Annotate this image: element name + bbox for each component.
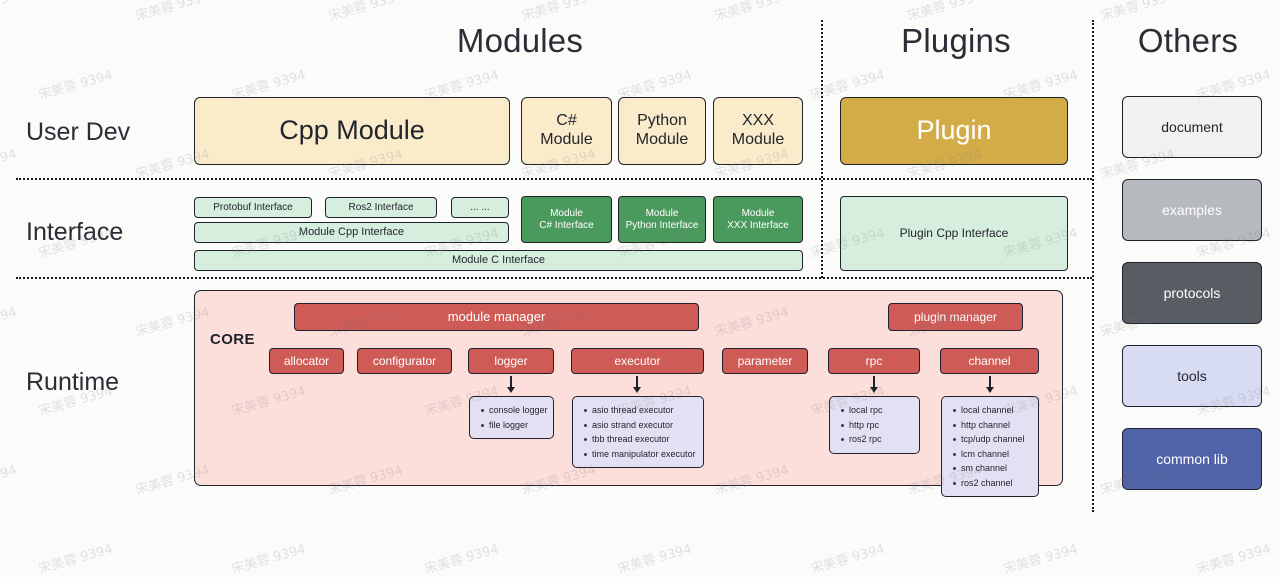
box-ros2-interface[interactable]: Ros2 Interface	[325, 197, 437, 218]
list-logger-children: console logger file logger	[469, 396, 554, 439]
divider-user-dev-interface	[16, 178, 1092, 180]
list-item: time manipulator executor	[592, 447, 696, 462]
list-item: console logger	[489, 403, 546, 418]
watermark-text: 宋美蓉 9394	[133, 0, 212, 24]
watermark-text: 宋美蓉 9394	[519, 0, 598, 24]
box-xxx-module[interactable]: XXX Module	[713, 97, 803, 165]
box-module-csharp-interface-line1: Module	[550, 208, 583, 220]
list-item: http channel	[961, 418, 1031, 433]
watermark-text: 宋美蓉 9394	[0, 143, 19, 182]
box-others-common-lib[interactable]: common lib	[1122, 428, 1262, 490]
arrow-executor-down	[630, 376, 644, 393]
column-title-others: Others	[1098, 22, 1278, 60]
list-item: http rpc	[849, 418, 912, 433]
box-others-document[interactable]: document	[1122, 96, 1262, 158]
list-item: sm channel	[961, 461, 1031, 476]
box-module-xxx-interface-line1: Module	[742, 208, 775, 220]
list-item: local rpc	[849, 403, 912, 418]
box-others-tools[interactable]: tools	[1122, 345, 1262, 407]
box-module-python-interface-line1: Module	[646, 208, 679, 220]
list-item: ros2 channel	[961, 476, 1031, 491]
box-more-interface[interactable]: ... ...	[451, 197, 509, 218]
row-label-interface: Interface	[26, 218, 123, 247]
list-channel-children: local channel http channel tcp/udp chann…	[941, 396, 1039, 497]
box-configurator[interactable]: configurator	[357, 348, 452, 374]
box-parameter[interactable]: parameter	[722, 348, 808, 374]
box-logger[interactable]: logger	[468, 348, 554, 374]
watermark-text: 宋美蓉 9394	[808, 538, 887, 577]
column-title-modules: Modules	[320, 22, 720, 60]
box-csharp-module-line1: C#	[556, 112, 576, 131]
list-item: lcm channel	[961, 447, 1031, 462]
diagram-canvas: 宋美蓉 9394宋美蓉 9394宋美蓉 9394宋美蓉 9394宋美蓉 9394…	[0, 0, 1280, 519]
box-others-examples[interactable]: examples	[1122, 179, 1262, 241]
box-plugin[interactable]: Plugin	[840, 97, 1068, 165]
box-module-python-interface-line2: Python Interface	[626, 220, 699, 232]
list-item: asio strand executor	[592, 418, 696, 433]
watermark-text: 宋美蓉 9394	[0, 0, 19, 24]
box-python-module-line1: Python	[637, 112, 687, 131]
box-module-csharp-interface[interactable]: Module C# Interface	[521, 196, 612, 243]
list-executor-children: asio thread executor asio strand executo…	[572, 396, 704, 468]
arrow-channel-down	[983, 376, 997, 393]
divider-interface-runtime	[16, 277, 1092, 279]
watermark-text: 宋美蓉 9394	[1001, 538, 1080, 577]
box-channel[interactable]: channel	[940, 348, 1039, 374]
box-allocator[interactable]: allocator	[269, 348, 344, 374]
box-module-python-interface[interactable]: Module Python Interface	[618, 196, 706, 243]
list-item: file logger	[489, 418, 546, 433]
column-title-plugins: Plugins	[836, 22, 1076, 60]
box-xxx-module-line2: Module	[732, 131, 784, 150]
box-protobuf-interface[interactable]: Protobuf Interface	[194, 197, 312, 218]
watermark-text: 宋美蓉 9394	[0, 301, 19, 340]
row-label-user-dev: User Dev	[26, 118, 130, 147]
list-item: local channel	[961, 403, 1031, 418]
watermark-text: 宋美蓉 9394	[0, 459, 19, 498]
box-rpc[interactable]: rpc	[828, 348, 920, 374]
box-xxx-module-line1: XXX	[742, 112, 774, 131]
row-label-runtime: Runtime	[26, 368, 119, 397]
box-others-protocols[interactable]: protocols	[1122, 262, 1262, 324]
box-python-module[interactable]: Python Module	[618, 97, 706, 165]
arrow-rpc-down	[867, 376, 881, 393]
watermark-text: 宋美蓉 9394	[229, 538, 308, 577]
box-csharp-module-line2: Module	[540, 131, 592, 150]
box-executor[interactable]: executor	[571, 348, 704, 374]
box-module-xxx-interface[interactable]: Module XXX Interface	[713, 196, 803, 243]
watermark-text: 宋美蓉 9394	[712, 0, 791, 24]
box-python-module-line2: Module	[636, 131, 688, 150]
watermark-text: 宋美蓉 9394	[36, 538, 115, 577]
list-item: tcp/udp channel	[961, 432, 1031, 447]
box-csharp-module[interactable]: C# Module	[521, 97, 612, 165]
list-item: asio thread executor	[592, 403, 696, 418]
list-rpc-children: local rpc http rpc ros2 rpc	[829, 396, 920, 454]
box-module-manager[interactable]: module manager	[294, 303, 699, 331]
watermark-text: 宋美蓉 9394	[905, 0, 984, 24]
box-cpp-module[interactable]: Cpp Module	[194, 97, 510, 165]
arrow-logger-down	[504, 376, 518, 393]
list-item: tbb thread executor	[592, 432, 696, 447]
watermark-text: 宋美蓉 9394	[422, 538, 501, 577]
watermark-text: 宋美蓉 9394	[1194, 538, 1273, 577]
box-module-c-interface[interactable]: Module C Interface	[194, 250, 803, 271]
watermark-text: 宋美蓉 9394	[326, 0, 405, 24]
watermark-text: 宋美蓉 9394	[615, 538, 694, 577]
box-plugin-cpp-interface[interactable]: Plugin Cpp Interface	[840, 196, 1068, 271]
divider-plugins-others	[1092, 20, 1094, 512]
list-item: ros2 rpc	[849, 432, 912, 447]
box-module-cpp-interface[interactable]: Module Cpp Interface	[194, 222, 509, 243]
watermark-text: 宋美蓉 9394	[36, 64, 115, 103]
watermark-text: 宋美蓉 9394	[1098, 0, 1177, 24]
divider-modules-plugins	[821, 20, 823, 278]
box-plugin-manager[interactable]: plugin manager	[888, 303, 1023, 331]
box-module-csharp-interface-line2: C# Interface	[539, 220, 593, 232]
core-label: CORE	[210, 331, 255, 348]
box-module-xxx-interface-line2: XXX Interface	[727, 220, 789, 232]
